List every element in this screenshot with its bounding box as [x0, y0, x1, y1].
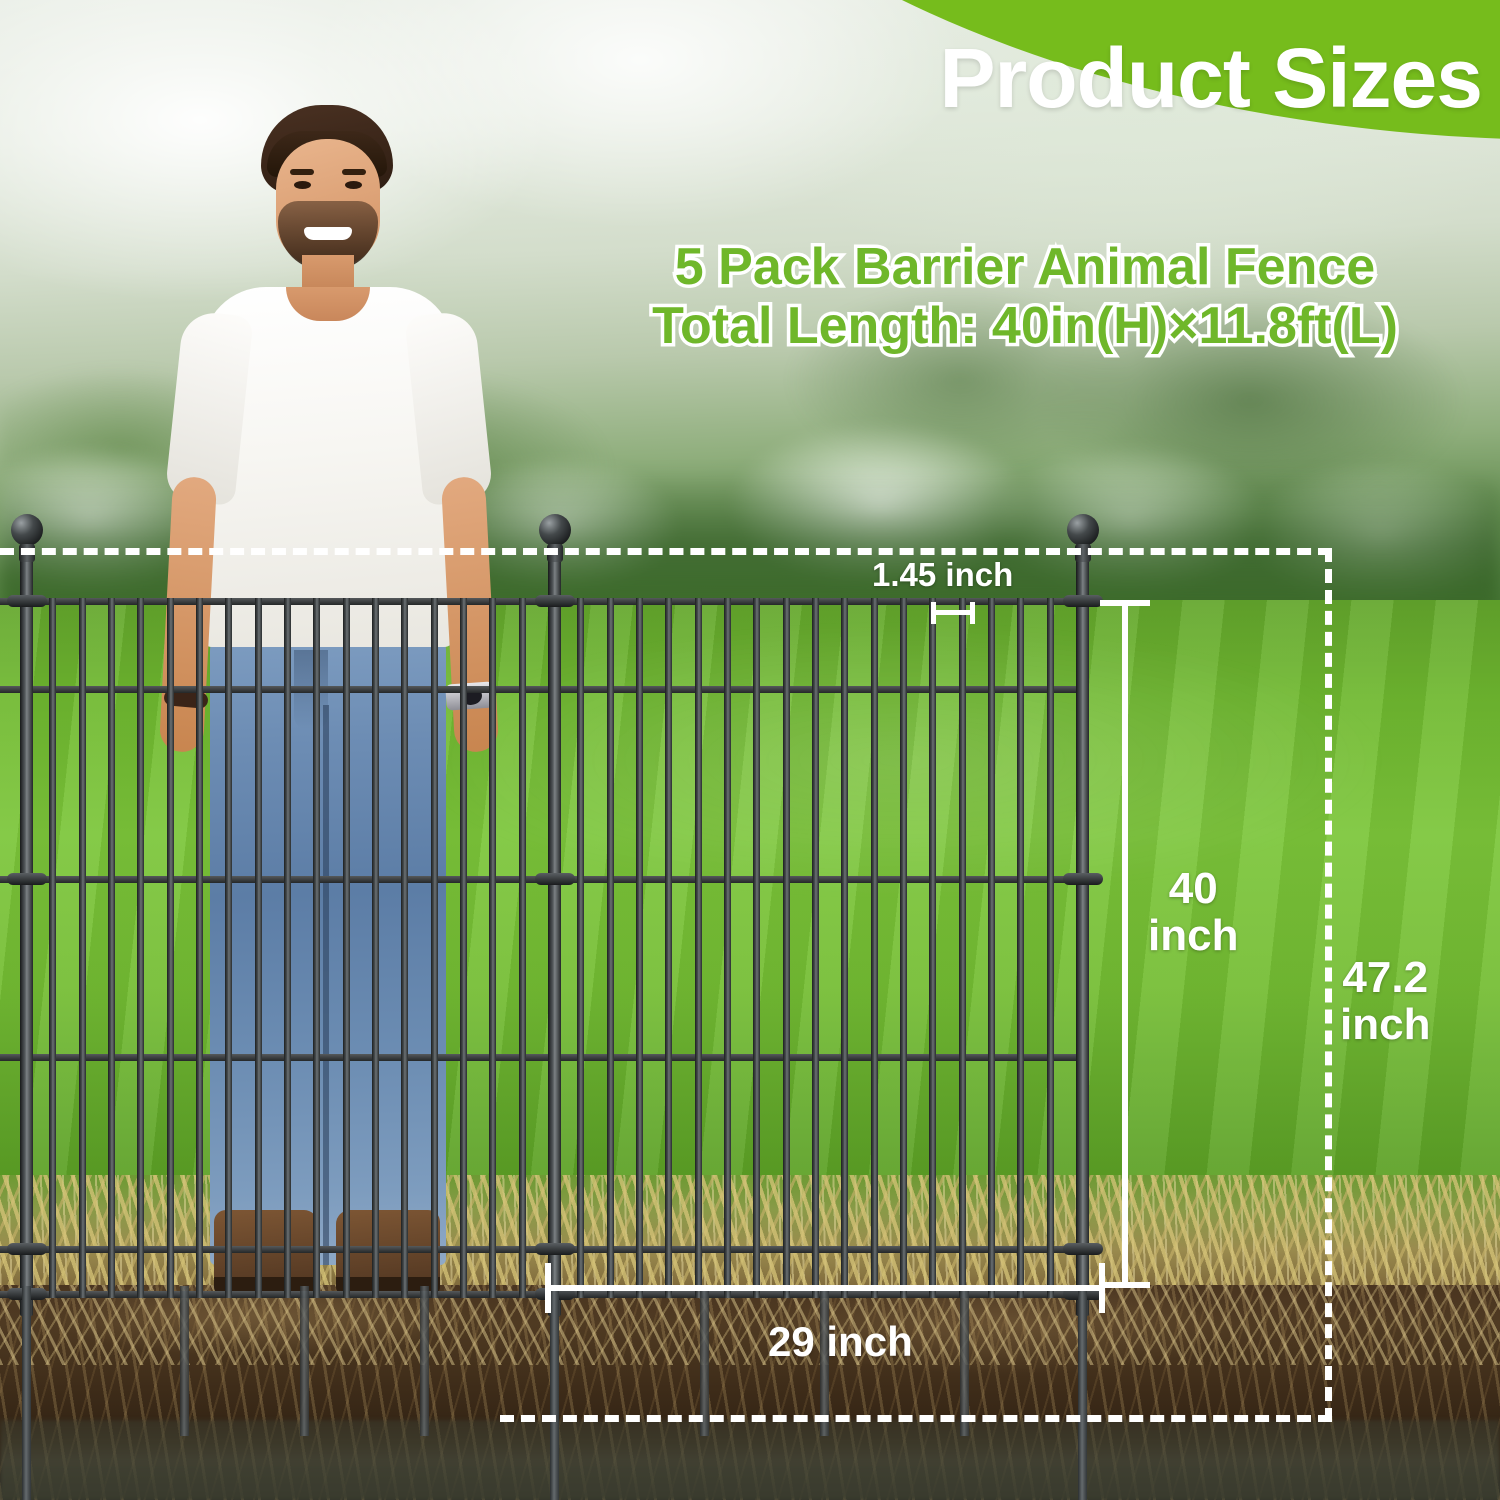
panel-width-cap-left — [545, 1263, 551, 1313]
deep-soil-layer — [0, 1420, 1500, 1500]
product-headline: 5 Pack Barrier Animal Fence Total Length… — [585, 238, 1465, 356]
post-collar-clip — [7, 595, 47, 607]
fence-bar — [313, 598, 320, 1298]
fence-bar — [724, 598, 731, 1298]
fence-bar — [577, 598, 584, 1298]
post-collar-clip — [7, 873, 47, 885]
above-ground-cap-bottom — [1100, 1282, 1150, 1288]
fence-bar — [460, 598, 467, 1298]
post-collar-clip — [535, 595, 575, 607]
top-guide-dashed-line — [0, 548, 1332, 555]
post-collar-clip — [1063, 1243, 1103, 1255]
above-ground-cap-top — [1100, 600, 1150, 606]
fence-bar — [431, 598, 438, 1298]
product-infographic: Product Sizes 5 Pack Barrier Animal Fenc… — [0, 0, 1500, 1500]
fence-assembly — [0, 556, 1130, 1316]
ground-stake — [300, 1286, 309, 1436]
fence-bar — [372, 598, 379, 1298]
fence-panel — [20, 556, 548, 1316]
fence-bar — [108, 598, 115, 1298]
total-height-label: 47.2 inch — [1340, 955, 1430, 1048]
ball-finial-icon — [11, 514, 43, 546]
fence-bar — [665, 598, 672, 1298]
panel-width-line — [545, 1285, 1105, 1291]
fence-bar — [871, 598, 878, 1298]
fence-bar — [167, 598, 174, 1298]
total-height-value: 47.2 — [1340, 955, 1430, 1002]
fence-bar — [137, 598, 144, 1298]
fence-bar — [959, 598, 966, 1298]
ground-stake — [960, 1286, 969, 1436]
fence-bar — [1017, 598, 1024, 1298]
person-eye-left — [294, 181, 311, 189]
post-collar-clip — [1063, 595, 1103, 607]
fence-rail — [0, 686, 20, 693]
fence-bar — [900, 598, 907, 1298]
ground-stake — [180, 1286, 189, 1436]
post-collar-clip — [7, 1243, 47, 1255]
fence-bar — [753, 598, 760, 1298]
ball-finial-icon — [1067, 514, 1099, 546]
fence-bar — [695, 598, 702, 1298]
fence-bar — [225, 598, 232, 1298]
fence-bar — [343, 598, 350, 1298]
fence-bar — [79, 598, 86, 1298]
total-height-guide-dashed-line — [1325, 548, 1332, 1422]
bar-spacing-marker — [931, 602, 975, 624]
ground-stake — [1078, 1286, 1087, 1500]
fence-bar — [841, 598, 848, 1298]
above-ground-height-label: 40 inch — [1148, 866, 1238, 959]
person-eyebrow-left — [290, 169, 314, 175]
fence-post — [20, 556, 33, 1316]
fence-panel — [548, 556, 1076, 1316]
bar-spacing-cap-right — [970, 602, 975, 624]
fence-bar — [812, 598, 819, 1298]
fence-bar — [519, 598, 526, 1298]
fence-bar — [636, 598, 643, 1298]
panel-width-cap-right — [1099, 1263, 1105, 1313]
above-ground-height-unit: inch — [1148, 913, 1238, 960]
ground-stake — [550, 1286, 559, 1500]
fence-bar — [196, 598, 203, 1298]
headline-line-2: Total Length: 40in(H)×11.8ft(L) — [585, 297, 1465, 356]
person-eye-right — [345, 181, 362, 189]
fence-bar — [255, 598, 262, 1298]
post-collar-clip — [1063, 873, 1103, 885]
fence-bar — [607, 598, 614, 1298]
post-collar-clip — [535, 1243, 575, 1255]
bar-spacing-label: 1.45 inch — [872, 558, 1013, 593]
ground-stake — [22, 1286, 31, 1500]
fence-post — [1076, 556, 1089, 1316]
banner-title: Product Sizes — [940, 36, 1482, 120]
fence-rail — [0, 1054, 20, 1061]
total-height-unit: inch — [1340, 1002, 1430, 1049]
headline-line-1: 5 Pack Barrier Animal Fence — [585, 238, 1465, 297]
fence-bar — [929, 598, 936, 1298]
fence-bar — [1047, 598, 1054, 1298]
bottom-guide-dashed-line — [500, 1415, 1332, 1422]
fence-bar — [49, 598, 56, 1298]
fence-post — [548, 556, 561, 1316]
post-collar-clip — [535, 873, 575, 885]
fence-bar — [401, 598, 408, 1298]
person-smile — [304, 227, 352, 240]
fence-bar — [489, 598, 496, 1298]
fence-bar — [783, 598, 790, 1298]
fence-bar — [988, 598, 995, 1298]
person-eyebrow-right — [342, 169, 366, 175]
above-ground-height-value: 40 — [1148, 866, 1238, 913]
fence-panel — [0, 556, 20, 1316]
ground-stake — [700, 1286, 709, 1436]
above-ground-height-line — [1122, 600, 1128, 1288]
ball-finial-icon — [539, 514, 571, 546]
fence-bar — [284, 598, 291, 1298]
bar-spacing-rule — [931, 610, 975, 615]
ground-stake — [420, 1286, 429, 1436]
panel-width-label: 29 inch — [768, 1320, 913, 1365]
